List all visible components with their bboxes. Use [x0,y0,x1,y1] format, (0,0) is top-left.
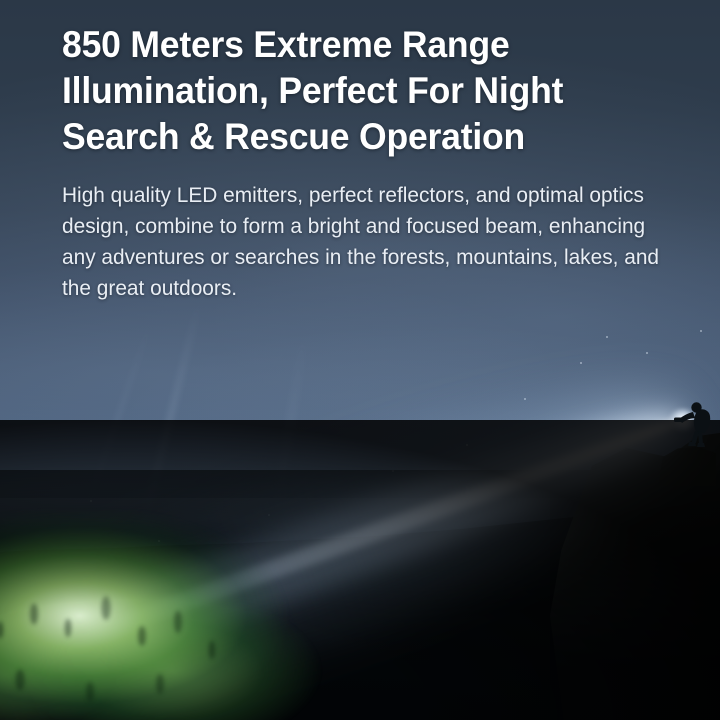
star [700,330,702,332]
star [606,336,608,338]
person-with-flashlight [668,398,714,454]
promo-banner: 850 Meters Extreme Range Illumination, P… [0,0,720,720]
star [524,398,526,400]
banner-text-block: 850 Meters Extreme Range Illumination, P… [62,22,710,304]
page-title: 850 Meters Extreme Range Illumination, P… [62,22,684,160]
bottom-vignette [0,420,720,720]
star [580,362,582,364]
star [646,352,648,354]
banner-description: High quality LED emitters, perfect refle… [62,180,683,304]
